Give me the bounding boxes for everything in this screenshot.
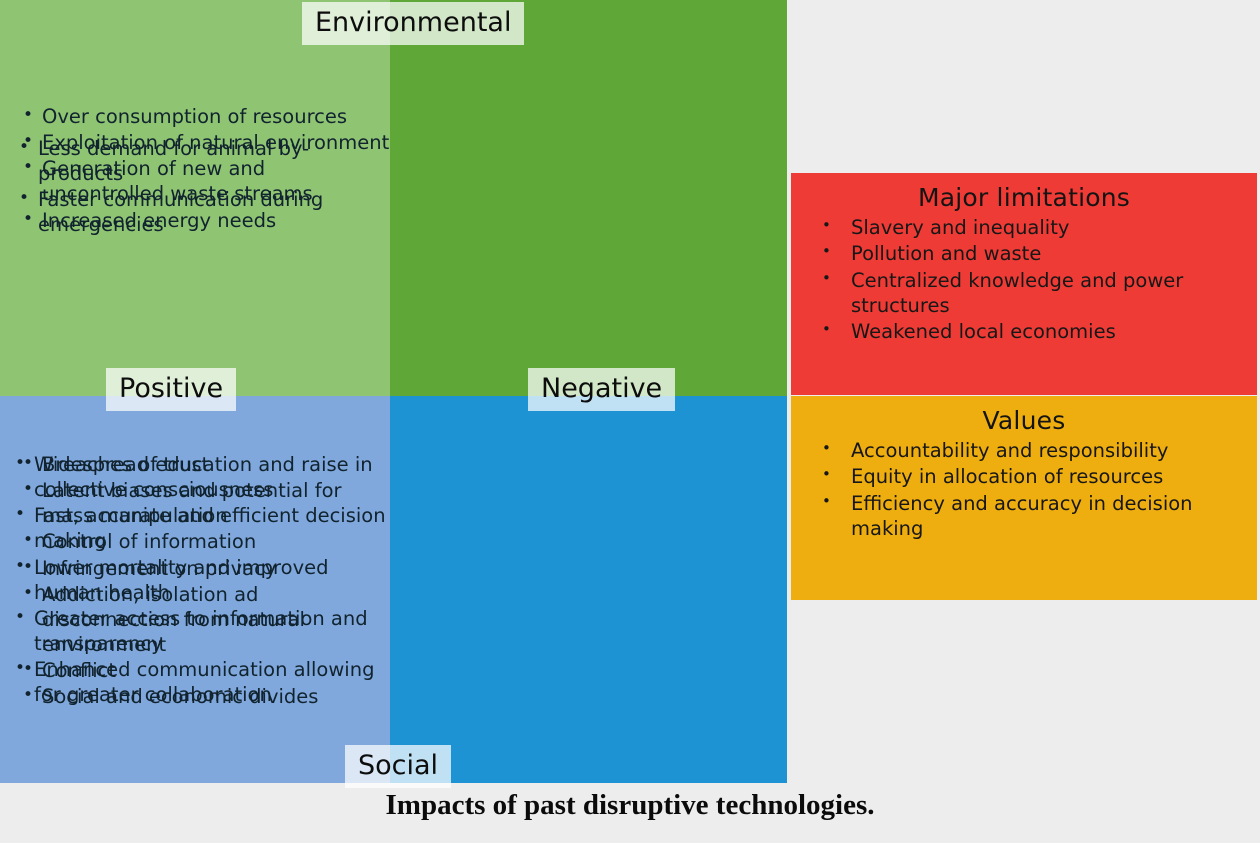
axis-label-negative: Negative [528,368,675,411]
quadrant-environmental-negative [390,0,787,396]
panel-values: Values Accountability and responsibility… [791,396,1257,600]
panel-major-limitations: Major limitations Slavery and inequality… [791,173,1257,395]
list-item: Latent biases and potential for mass man… [18,478,390,528]
list-item: Accountability and responsibility [805,438,1243,463]
list-item: Weakened local economies [805,319,1243,344]
list-item: Generation of new and uncontrolled waste… [18,156,390,206]
list-item: Centralized knowledge and power structur… [805,268,1243,319]
list-item: Exploitation of natural environment [18,130,390,155]
list-item: Pollution and waste [805,241,1243,266]
quadrant-social-negative [390,396,787,783]
axis-label-positive: Positive [106,368,236,411]
bullet-list: Accountability and responsibility Equity… [805,438,1243,541]
list-item: Equity in allocation of resources [805,464,1243,489]
panel-title-major-limitations: Major limitations [805,183,1243,212]
list-item: Slavery and inequality [805,215,1243,240]
axis-label-social: Social [345,745,451,788]
list-item: Addiction, isolation ad disconnection fr… [18,582,390,657]
list-item: Conflict [18,658,390,683]
list-item: Increased energy needs [18,208,390,233]
list-social-negative: Breaches of trust Latent biases and pote… [18,452,390,710]
list-item: Infringement on privacy [18,556,390,581]
list-item: Social and economic divides [18,684,390,709]
list-item: Breaches of trust [18,452,390,477]
bullet-list: Slavery and inequality Pollution and was… [805,215,1243,345]
axis-label-environmental: Environmental [302,2,524,45]
bullet-list: Over consumption of resources Exploitati… [18,104,390,233]
list-item: Over consumption of resources [18,104,390,129]
bullet-list: Breaches of trust Latent biases and pote… [18,452,390,709]
list-environmental-negative: Over consumption of resources Exploitati… [18,104,390,234]
list-item: Efficiency and accuracy in decision maki… [805,491,1243,542]
panel-title-values: Values [805,406,1243,435]
figure-caption: Impacts of past disruptive technologies. [0,789,1260,822]
figure-canvas: Less demand for animal by-products Faste… [0,0,1260,843]
list-item: Control of information [18,529,390,554]
